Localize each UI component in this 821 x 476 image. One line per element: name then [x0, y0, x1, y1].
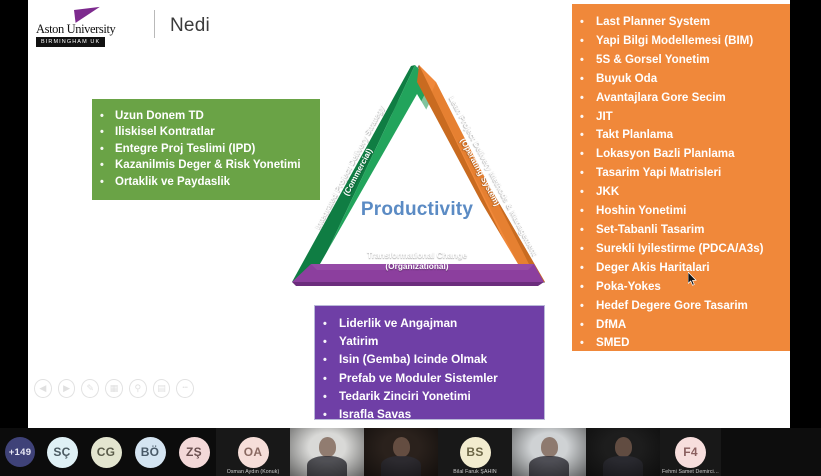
bullet-text: Surekli Iyilestirme (PDCA/A3s) — [596, 240, 764, 258]
participant-tile[interactable]: SÇ — [40, 428, 84, 476]
bullet-text: Entegre Proj Teslimi (IPD) — [115, 141, 255, 157]
participant-tile[interactable]: CG — [84, 428, 128, 476]
bullet-text: Israfla Savas — [339, 406, 411, 423]
purple-bullet-list: •Liderlik ve Angajman•Yatirim•Isin (Gemb… — [323, 315, 534, 424]
participant-video — [586, 428, 660, 476]
bullet-text: Isin (Gemba) Icinde Olmak — [339, 351, 487, 368]
orange-bullet-list: •Last Planner System•Yapi Bilgi Modellem… — [580, 13, 790, 372]
bullet-item: •Yapi Bilgi Modellemesi (BIM) — [580, 32, 790, 51]
bullet-text: Last Planner System — [596, 13, 710, 31]
participant-tile[interactable]: F4Fehmi Samet Demirci/YTÜ İNŞA — [660, 428, 721, 476]
bullet-item: •JKK — [580, 183, 790, 202]
participant-tile[interactable]: OAOsman Aydın (Konuk) — [216, 428, 290, 476]
bullet-dot-icon: • — [580, 146, 596, 164]
participant-name-label: Osman Aydın (Konuk) — [216, 469, 290, 475]
participant-video — [290, 428, 364, 476]
bullet-text: Prefab ve Moduler Sistemler — [339, 370, 498, 387]
bullet-dot-icon: • — [323, 334, 339, 351]
green-bullet-box: •Uzun Donem TD•Iliskisel Kontratlar•Ente… — [92, 99, 320, 200]
productivity-triangle-diagram: Integrated Project Delivery Strategy (Co… — [286, 60, 548, 288]
bullet-dot-icon: • — [580, 317, 596, 335]
bullet-text: ………… — [596, 353, 642, 371]
participant-tile[interactable] — [290, 428, 364, 476]
notes-icon[interactable]: ▤ — [153, 379, 171, 398]
bullet-dot-icon: • — [580, 33, 596, 51]
bullet-item: •SMED — [580, 334, 790, 353]
bullet-text: Yapi Bilgi Modellemesi (BIM) — [596, 32, 753, 50]
avatar: F4 — [675, 437, 706, 468]
logo-wordmark: Aston University — [36, 22, 115, 37]
participant-video — [512, 428, 586, 476]
bullet-item: •Entegre Proj Teslimi (IPD) — [100, 141, 310, 157]
bullet-item: •Iliskisel Kontratlar — [100, 124, 310, 140]
bullet-item: •Yatirim — [323, 333, 534, 351]
bullet-dot-icon: • — [100, 124, 115, 140]
bullet-text: Poka-Yokes — [596, 278, 661, 296]
avatar: BS — [460, 437, 491, 468]
bullet-item: •Deger Akis Haritalari — [580, 259, 790, 278]
participant-tile[interactable] — [512, 428, 586, 476]
avatar: OA — [238, 437, 269, 468]
bullet-dot-icon: • — [580, 222, 596, 240]
triangle-graphic — [286, 60, 548, 288]
orange-bullet-box: •Last Planner System•Yapi Bilgi Modellem… — [572, 4, 790, 351]
bullet-text: Takt Planlama — [596, 126, 673, 144]
bullet-item: •JIT — [580, 108, 790, 127]
bullet-dot-icon: • — [580, 184, 596, 202]
bullet-text: Avantajlara Gore Secim — [596, 89, 726, 107]
bullet-item: •………… — [580, 353, 790, 372]
bullet-dot-icon: • — [580, 241, 596, 259]
mouse-cursor — [688, 272, 697, 286]
bullet-item: •Hoshin Yonetimi — [580, 202, 790, 221]
aston-university-logo: Aston University BIRMINGHAM UK — [36, 10, 144, 44]
avatar: ZŞ — [179, 437, 210, 468]
participant-tile[interactable] — [586, 428, 660, 476]
bullet-text: JKK — [596, 183, 619, 201]
bullet-text: Iliskisel Kontratlar — [115, 124, 215, 140]
bullet-item: •Isin (Gemba) Icinde Olmak — [323, 351, 534, 369]
bullet-dot-icon: • — [580, 71, 596, 89]
bullet-item: •Avantajlara Gore Secim — [580, 89, 790, 108]
bullet-item: •Uzun Donem TD — [100, 108, 310, 124]
bullet-item: •5S & Gorsel Yonetim — [580, 51, 790, 70]
bullet-dot-icon: • — [580, 298, 596, 316]
bullet-dot-icon: • — [580, 354, 596, 372]
bullet-dot-icon: • — [580, 335, 596, 353]
bullet-text: JIT — [596, 108, 613, 126]
bullet-text: Lokasyon Bazli Planlama — [596, 145, 735, 163]
bullet-dot-icon: • — [580, 165, 596, 183]
bullet-item: •Ortaklik ve Paydaslik — [100, 174, 310, 190]
bullet-item: •Israfla Savas — [323, 406, 534, 424]
bullet-dot-icon: • — [100, 157, 115, 173]
bullet-text: Hedef Degere Gore Tasarim — [596, 297, 748, 315]
bullet-dot-icon: • — [580, 90, 596, 108]
shared-slide[interactable]: Aston University BIRMINGHAM UK Nedi — [28, 0, 790, 428]
bullet-dot-icon: • — [323, 371, 339, 388]
bullet-text: Hoshin Yonetimi — [596, 202, 686, 220]
purple-bullet-box: •Liderlik ve Angajman•Yatirim•Isin (Gemb… — [314, 305, 545, 420]
bullet-item: •Liderlik ve Angajman — [323, 315, 534, 333]
bullet-item: •Lokasyon Bazli Planlama — [580, 145, 790, 164]
meeting-window: Aston University BIRMINGHAM UK Nedi — [0, 0, 821, 476]
participant-filmstrip[interactable]: +149SÇCGBÖZŞOAOsman Aydın (Konuk)BSBilal… — [0, 428, 821, 476]
slide-navigation-toolbar[interactable]: ◀▶✎▦⚲▤••• — [34, 377, 194, 399]
bullet-dot-icon: • — [580, 14, 596, 32]
overflow-count-badge: +149 — [5, 437, 35, 467]
bullet-item: •DfMA — [580, 316, 790, 335]
bullet-item: •Hedef Degere Gore Tasarim — [580, 297, 790, 316]
zoom-icon[interactable]: ⚲ — [129, 379, 147, 398]
bullet-text: Buyuk Oda — [596, 70, 657, 88]
bullet-item: •Buyuk Oda — [580, 70, 790, 89]
bullet-text: Kazanilmis Deger & Risk Yonetimi — [115, 157, 301, 173]
bullet-dot-icon: • — [100, 174, 115, 190]
participant-name-label: Fehmi Samet Demirci/YTÜ İNŞA — [660, 469, 721, 475]
bullet-dot-icon: • — [323, 389, 339, 406]
page-title: Nedi — [170, 15, 210, 37]
participant-video — [364, 428, 438, 476]
bullet-text: Yatirim — [339, 333, 378, 350]
bullet-dot-icon: • — [580, 109, 596, 127]
annotate-icon[interactable]: ✎ — [81, 379, 99, 398]
aston-triangle-icon — [74, 7, 101, 23]
previous-slide-icon[interactable]: ◀ — [34, 379, 52, 398]
bullet-item: •Surekli Iyilestirme (PDCA/A3s) — [580, 240, 790, 259]
participant-tile[interactable]: BÖ — [128, 428, 172, 476]
bullet-item: •Last Planner System — [580, 13, 790, 32]
bullet-item: •Takt Planlama — [580, 126, 790, 145]
green-bullet-list: •Uzun Donem TD•Iliskisel Kontratlar•Ente… — [100, 108, 310, 190]
bullet-text: DfMA — [596, 316, 626, 334]
logo-subtitle: BIRMINGHAM UK — [36, 37, 105, 47]
avatar: BÖ — [135, 437, 166, 468]
bullet-item: •Poka-Yokes — [580, 278, 790, 297]
bullet-text: SMED — [596, 334, 630, 352]
bullet-item: •Tedarik Zinciri Yonetimi — [323, 388, 534, 406]
bullet-item: •Tasarim Yapi Matrisleri — [580, 164, 790, 183]
bullet-text: Tasarim Yapi Matrisleri — [596, 164, 721, 182]
participant-name-label: Bilal Faruk ŞAHIN — [438, 469, 512, 475]
participant-tile[interactable]: BSBilal Faruk ŞAHIN — [438, 428, 512, 476]
bullet-text: Set-Tabanli Tasarim — [596, 221, 704, 239]
bullet-dot-icon: • — [323, 352, 339, 369]
bullet-dot-icon: • — [580, 260, 596, 278]
bullet-dot-icon: • — [580, 203, 596, 221]
bullet-dot-icon: • — [100, 108, 115, 124]
bullet-text: Uzun Donem TD — [115, 108, 204, 124]
participant-tile[interactable] — [364, 428, 438, 476]
bullet-item: •Set-Tabanli Tasarim — [580, 221, 790, 240]
avatar: CG — [91, 437, 122, 468]
bullet-item: •Kazanilmis Deger & Risk Yonetimi — [100, 157, 310, 173]
bullet-dot-icon: • — [323, 407, 339, 424]
avatar: SÇ — [47, 437, 78, 468]
slide-layout-icon[interactable]: ▦ — [105, 379, 123, 398]
bullet-dot-icon: • — [580, 279, 596, 297]
header-divider — [154, 10, 155, 38]
participant-tile[interactable]: +149 — [0, 428, 40, 476]
bullet-dot-icon: • — [323, 316, 339, 333]
more-options-icon[interactable]: ••• — [176, 379, 194, 398]
bullet-text: Liderlik ve Angajman — [339, 315, 457, 332]
bullet-text: 5S & Gorsel Yonetim — [596, 51, 710, 69]
next-slide-icon[interactable]: ▶ — [58, 379, 76, 398]
bullet-dot-icon: • — [580, 52, 596, 70]
participant-tile[interactable]: ZŞ — [172, 428, 216, 476]
bullet-dot-icon: • — [580, 127, 596, 145]
bullet-text: Ortaklik ve Paydaslik — [115, 174, 230, 190]
bullet-item: •Prefab ve Moduler Sistemler — [323, 370, 534, 388]
bullet-dot-icon: • — [100, 141, 115, 157]
bullet-text: Tedarik Zinciri Yonetimi — [339, 388, 471, 405]
